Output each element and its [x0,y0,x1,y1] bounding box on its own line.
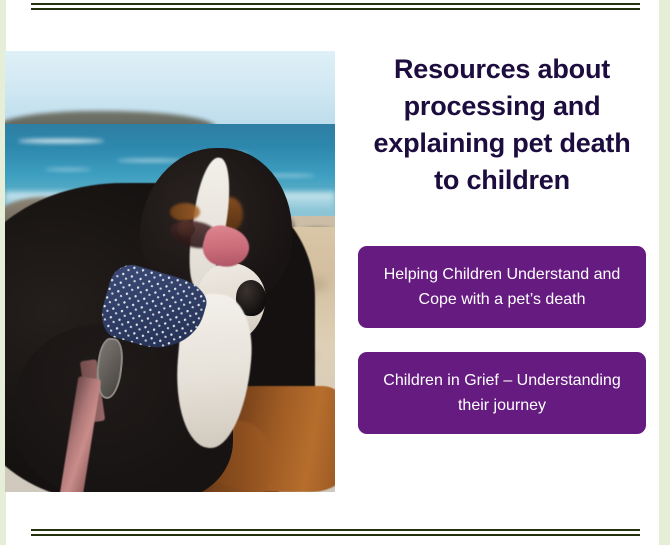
wave-crest [45,168,91,171]
dog-beach-photo [5,51,335,492]
resources-section: Resources about processing and explainin… [5,51,641,493]
resource-link-children-in-grief[interactable]: Children in Grief – Understanding their … [358,352,646,434]
divider-bottom [31,529,640,536]
photo-scene [5,51,335,492]
divider-top [31,3,640,10]
resource-link-helping-children[interactable]: Helping Children Understand and Cope wit… [358,246,646,328]
dog-eyebrow-marking [170,203,200,221]
page-content: Resources about processing and explainin… [0,0,670,545]
page-title: Resources about processing and explainin… [358,51,646,199]
resources-text-column: Resources about processing and explainin… [358,51,646,434]
